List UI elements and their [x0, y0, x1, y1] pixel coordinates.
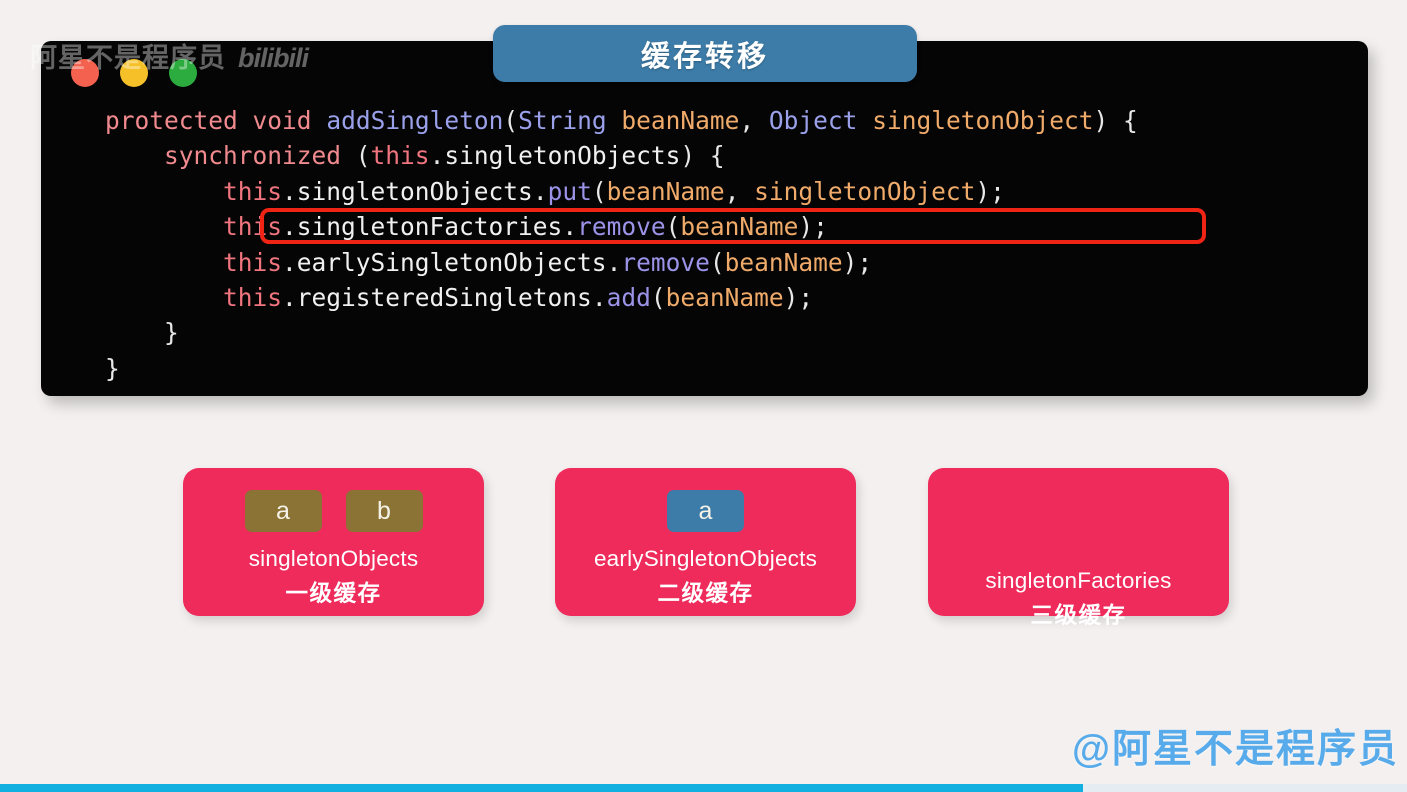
code-token: put — [548, 177, 592, 206]
code-token: protected — [105, 106, 238, 135]
code-token: . — [282, 248, 297, 277]
code-token — [312, 106, 327, 135]
window-controls — [71, 59, 197, 87]
code-line: this.singletonObjects.put(beanName, sing… — [105, 174, 1368, 209]
code-token: this — [223, 283, 282, 312]
page-title: 缓存转移 — [641, 33, 769, 75]
code-token: beanName — [680, 212, 798, 241]
code-token — [105, 248, 223, 277]
code-line: this.registeredSingletons.add(beanName); — [105, 280, 1368, 315]
code-token: ); — [784, 283, 814, 312]
code-token: . — [282, 177, 297, 206]
cache-card-level: 一级缓存 — [285, 576, 381, 608]
code-block: protected void addSingleton(String beanN… — [41, 103, 1368, 386]
code-token: Object — [769, 106, 858, 135]
code-token: ); — [975, 177, 1005, 206]
code-token: singletonObjects — [297, 177, 533, 206]
video-progress-track[interactable] — [0, 784, 1407, 792]
code-token: earlySingletonObjects — [297, 248, 607, 277]
code-token: ( — [503, 106, 518, 135]
code-line: } — [105, 351, 1368, 386]
code-line: } — [105, 315, 1368, 350]
cache-card-level: 二级缓存 — [657, 576, 753, 608]
code-token: ( — [592, 177, 607, 206]
maximize-dot-icon[interactable] — [169, 59, 197, 87]
cache-cards-row: absingletonObjects一级缓存aearlySingletonObj… — [0, 468, 1407, 618]
minimize-dot-icon[interactable] — [120, 59, 148, 87]
cache-bean-chip: b — [346, 490, 423, 532]
code-token: ); — [843, 248, 873, 277]
code-token: . — [282, 283, 297, 312]
code-line: this.earlySingletonObjects.remove(beanNa… — [105, 245, 1368, 280]
code-token: this — [223, 177, 282, 206]
code-token: , — [725, 177, 755, 206]
code-token: beanName — [725, 248, 843, 277]
code-token: ) { — [1093, 106, 1137, 135]
code-token: registeredSingletons — [297, 283, 592, 312]
cache-card: absingletonObjects一级缓存 — [183, 468, 484, 616]
code-token: this — [223, 248, 282, 277]
code-token: beanName — [666, 283, 784, 312]
code-token: synchronized — [164, 141, 341, 170]
cache-card-name: earlySingletonObjects — [594, 546, 817, 572]
code-token: ( — [651, 283, 666, 312]
code-token: . — [607, 248, 622, 277]
code-token: ( — [666, 212, 681, 241]
code-token: ( — [341, 141, 371, 170]
code-token — [105, 212, 223, 241]
code-token: this — [371, 141, 430, 170]
code-token: void — [253, 106, 312, 135]
watermark-bottom-right: @阿星不是程序员 — [1072, 718, 1399, 774]
cache-card-level: 三级缓存 — [1030, 598, 1126, 630]
code-token: String — [518, 106, 607, 135]
code-token: ) { — [680, 141, 724, 170]
code-token — [238, 106, 253, 135]
code-token: , — [739, 106, 769, 135]
code-token: } — [105, 318, 179, 347]
code-token: . — [592, 283, 607, 312]
code-line: protected void addSingleton(String beanN… — [105, 103, 1368, 138]
code-token: beanName — [621, 106, 739, 135]
code-token — [105, 177, 223, 206]
cache-card-name: singletonObjects — [249, 546, 419, 572]
code-token — [105, 141, 164, 170]
code-token: addSingleton — [326, 106, 503, 135]
cache-card: aearlySingletonObjects二级缓存 — [555, 468, 856, 616]
slide-title-banner: 缓存转移 — [493, 25, 917, 82]
code-token: . — [282, 212, 297, 241]
code-token — [857, 106, 872, 135]
code-token: singletonObjects — [444, 141, 680, 170]
code-token: remove — [621, 248, 710, 277]
code-token: add — [607, 283, 651, 312]
code-token: ); — [798, 212, 828, 241]
code-token: singletonObject — [754, 177, 975, 206]
cache-card-name: singletonFactories — [985, 568, 1171, 594]
code-line: synchronized (this.singletonObjects) { — [105, 138, 1368, 173]
code-token: singletonObject — [872, 106, 1093, 135]
code-token: this — [223, 212, 282, 241]
code-token: remove — [577, 212, 666, 241]
code-token: . — [430, 141, 445, 170]
code-token: } — [105, 354, 120, 383]
code-token: . — [533, 177, 548, 206]
cache-chip-row: ab — [245, 490, 423, 532]
close-dot-icon[interactable] — [71, 59, 99, 87]
cache-card: singletonFactories三级缓存 — [928, 468, 1229, 616]
code-window: protected void addSingleton(String beanN… — [41, 41, 1368, 396]
cache-bean-chip: a — [245, 490, 322, 532]
cache-chip-row: a — [667, 490, 744, 532]
code-token: singletonFactories — [297, 212, 563, 241]
code-token: beanName — [607, 177, 725, 206]
code-token — [607, 106, 622, 135]
code-token — [105, 283, 223, 312]
code-token: ( — [710, 248, 725, 277]
video-progress-fill — [0, 784, 1083, 792]
code-token: . — [562, 212, 577, 241]
cache-bean-chip: a — [667, 490, 744, 532]
code-line: this.singletonFactories.remove(beanName)… — [105, 209, 1368, 244]
